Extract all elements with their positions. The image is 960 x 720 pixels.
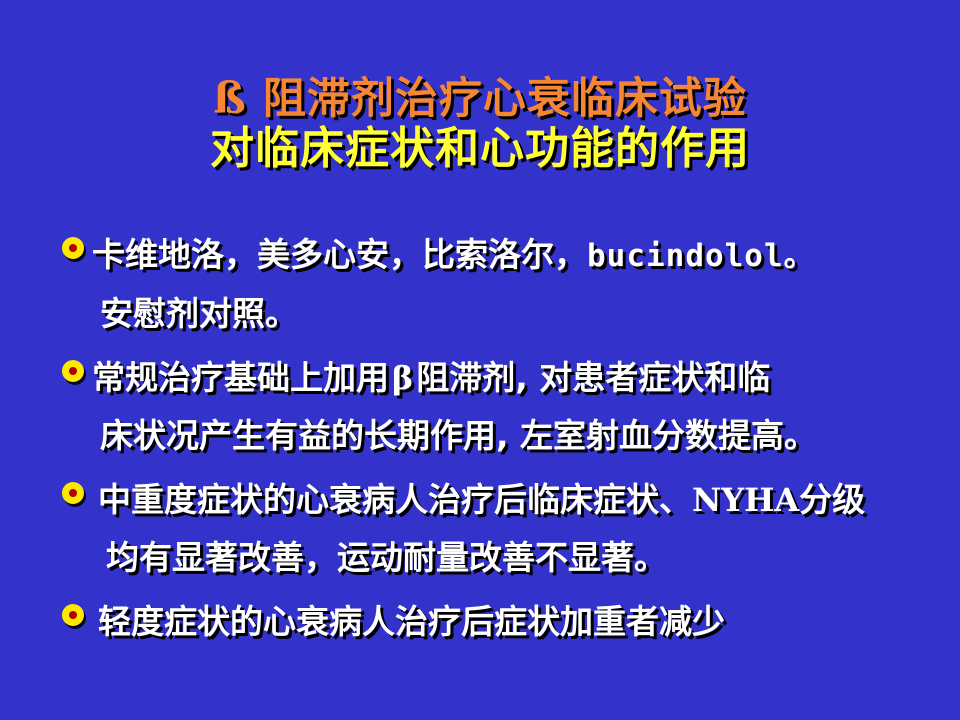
- list-item-line: 均有显著改善，运动耐量改善不显著。: [0, 529, 960, 587]
- title-line-primary-text: 阻滞剂治疗心衰临床试验: [263, 74, 747, 124]
- beta-symbol-icon: β: [389, 359, 416, 397]
- list-item-text: 常规治疗基础上加用β阻滞剂, 对患者症状和临 床状况产生有益的长期作用, 左室射…: [0, 349, 960, 465]
- bullet-dot-icon: [62, 360, 84, 382]
- nyha-label: NYHA: [692, 481, 799, 519]
- list-item-text: 中重度症状的心衰病人治疗后临床症状、NYHA分级 均有显著改善，运动耐量改善不显…: [0, 471, 960, 587]
- list-item-line: 常规治疗基础上加用β阻滞剂, 对患者症状和临: [0, 349, 960, 407]
- list-item-text: 轻度症状的心衰病人治疗后症状加重者减少: [0, 593, 960, 651]
- slide-canvas: ß阻滞剂治疗心衰临床试验 对临床症状和心功能的作用 卡维地洛，美多心安，比索洛尔…: [0, 0, 960, 720]
- bullet-dot-icon: [62, 237, 84, 259]
- bullet-list: 卡维地洛，美多心安，比索洛尔，bucindolol。 安慰剂对照。 常规治疗基础…: [0, 226, 960, 657]
- list-item-line: 安慰剂对照。: [0, 285, 960, 343]
- list-item-text: 卡维地洛，美多心安，比索洛尔，bucindolol。 安慰剂对照。: [0, 226, 960, 343]
- title-line-secondary: 对临床症状和心功能的作用: [0, 127, 960, 171]
- list-item: 轻度症状的心衰病人治疗后症状加重者减少: [0, 593, 960, 651]
- drug-name-bucindolol: bucindolol。: [587, 238, 816, 274]
- list-item-line-text-b: 阻滞剂, 对患者症状和临: [416, 358, 770, 397]
- list-item: 中重度症状的心衰病人治疗后临床症状、NYHA分级 均有显著改善，运动耐量改善不显…: [0, 471, 960, 587]
- list-item-line-text-a: 常规治疗基础上加用: [92, 358, 389, 397]
- list-item-line-text-a: 中重度症状的心衰病人治疗后临床症状、: [98, 480, 692, 519]
- title-line-primary: ß阻滞剂治疗心衰临床试验: [0, 78, 960, 121]
- list-item-line: 中重度症状的心衰病人治疗后临床症状、NYHA分级: [0, 471, 960, 529]
- list-item-line: 轻度症状的心衰病人治疗后症状加重者减少: [0, 593, 960, 651]
- bullet-dot-icon: [62, 482, 84, 504]
- list-item: 卡维地洛，美多心安，比索洛尔，bucindolol。 安慰剂对照。: [0, 226, 960, 343]
- slide-title-block: ß阻滞剂治疗心衰临床试验 对临床症状和心功能的作用: [0, 78, 960, 171]
- list-item-line-text-b: 分级: [799, 480, 865, 519]
- list-item-line: 卡维地洛，美多心安，比索洛尔，bucindolol。: [0, 226, 960, 285]
- beta-symbol-icon: ß: [213, 74, 263, 124]
- list-item: 常规治疗基础上加用β阻滞剂, 对患者症状和临 床状况产生有益的长期作用, 左室射…: [0, 349, 960, 465]
- list-item-line-text: 卡维地洛，美多心安，比索洛尔，: [92, 235, 587, 274]
- bullet-dot-icon: [62, 604, 84, 626]
- list-item-line: 床状况产生有益的长期作用, 左室射血分数提高。: [0, 407, 960, 465]
